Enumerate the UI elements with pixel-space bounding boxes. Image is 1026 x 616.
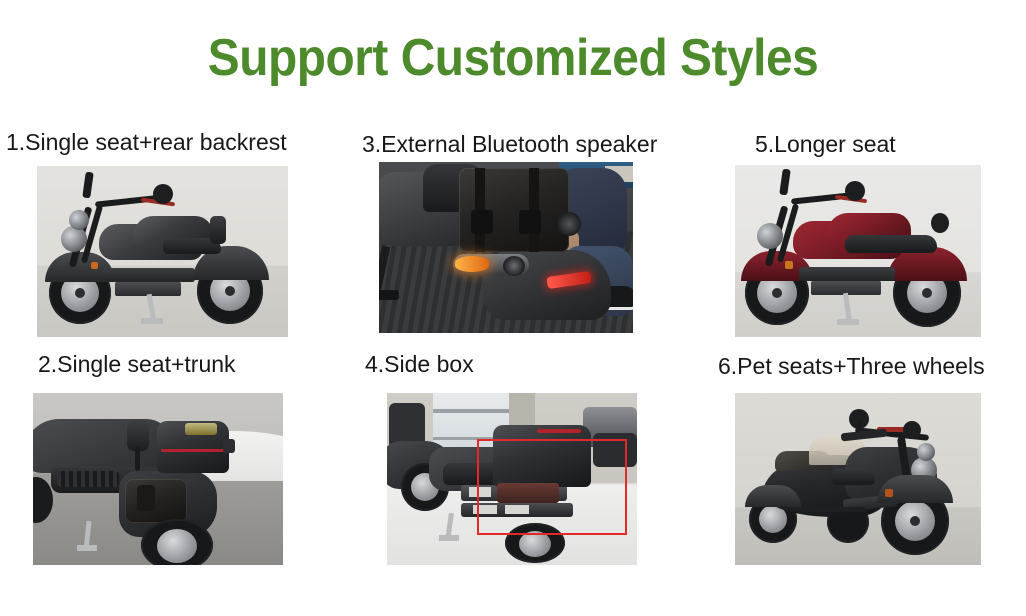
photo-1-scene: [37, 166, 288, 337]
feature-caption-4: 4.Side box: [365, 350, 474, 378]
feature-caption-6: 6.Pet seats+Three wheels: [718, 352, 985, 380]
page-title: Support Customized Styles: [41, 28, 985, 88]
feature-caption-5: 5.Longer seat: [755, 130, 896, 158]
rear-backrest: [210, 216, 226, 244]
photo-2-scene: [33, 393, 283, 565]
feature-photo-6: [735, 393, 981, 565]
feature-photo-4: [387, 393, 637, 565]
photo-4-scene: [387, 393, 637, 565]
slide-canvas: Support Customized Styles 1.Single seat+…: [0, 0, 1026, 616]
photo-6-scene: [735, 393, 981, 565]
feature-caption-3: 3.External Bluetooth speaker: [362, 130, 657, 158]
feature-photo-5: [735, 165, 981, 337]
feature-photo-3: [379, 162, 633, 333]
photo-5-scene: [735, 165, 981, 337]
feature-photo-1: [37, 166, 288, 337]
photo-3-scene: [379, 162, 633, 333]
feature-caption-2: 2.Single seat+trunk: [38, 350, 236, 378]
red-highlight-rectangle: [477, 439, 627, 535]
feature-caption-1: 1.Single seat+rear backrest: [6, 128, 287, 156]
longer-seat: [845, 235, 937, 253]
feature-photo-2: [33, 393, 283, 565]
